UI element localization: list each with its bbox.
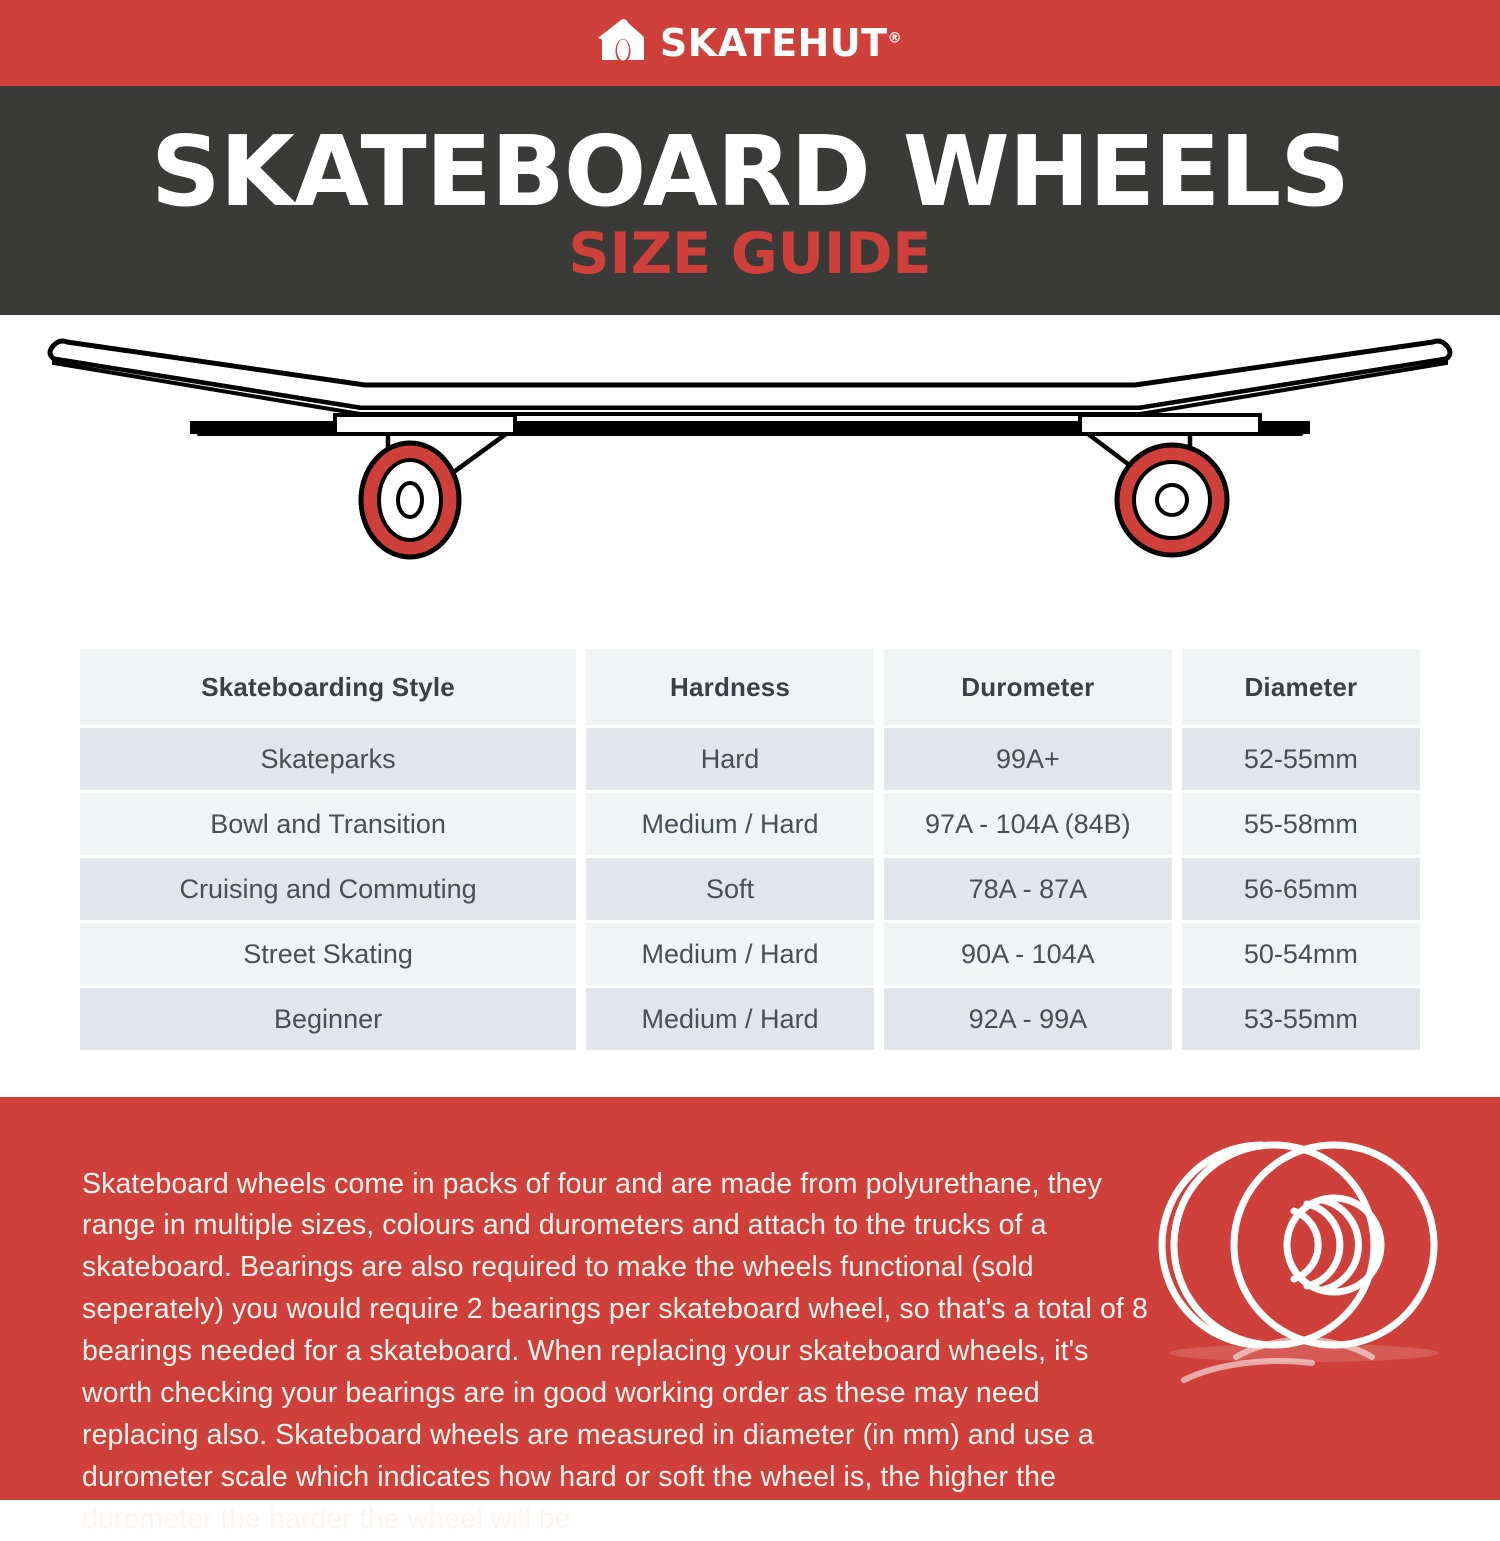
cell-hardness: Medium / Hard bbox=[586, 988, 874, 1050]
cell-hardness: Hard bbox=[586, 728, 874, 790]
cell-diameter: 52-55mm bbox=[1182, 728, 1420, 790]
table-row: Skateparks Hard 99A+ 52-55mm bbox=[80, 728, 1420, 790]
cell-hardness: Medium / Hard bbox=[586, 793, 874, 855]
cell-durometer: 99A+ bbox=[884, 728, 1172, 790]
cell-durometer: 90A - 104A bbox=[884, 923, 1172, 985]
cell-style: Bowl and Transition bbox=[80, 793, 576, 855]
skateboard-side-view-svg bbox=[40, 315, 1460, 615]
cell-style: Skateparks bbox=[80, 728, 576, 790]
table-row: Street Skating Medium / Hard 90A - 104A … bbox=[80, 923, 1420, 985]
brand-bar: SKATEHUT® bbox=[0, 0, 1500, 86]
front-wheel bbox=[361, 443, 459, 557]
brand-name: SKATEHUT® bbox=[660, 24, 902, 62]
footer-paragraph: Skateboard wheels come in packs of four … bbox=[82, 1164, 1162, 1541]
wheel-size-table: Skateboarding Style Hardness Durometer D… bbox=[80, 645, 1420, 1050]
cell-diameter: 55-58mm bbox=[1182, 793, 1420, 855]
cell-style: Cruising and Commuting bbox=[80, 858, 576, 920]
brand-name-text: SKATEHUT bbox=[660, 21, 888, 65]
table-row: Cruising and Commuting Soft 78A - 87A 56… bbox=[80, 858, 1420, 920]
column-header-style: Skateboarding Style bbox=[80, 649, 576, 725]
table-header-row: Skateboarding Style Hardness Durometer D… bbox=[80, 649, 1420, 725]
rear-wheel bbox=[1117, 445, 1227, 555]
skateboard-wheel-icon bbox=[1144, 1125, 1464, 1460]
title-band: SKATEBOARD WHEELS SIZE GUIDE bbox=[0, 86, 1500, 315]
cell-hardness: Medium / Hard bbox=[586, 923, 874, 985]
page-subtitle: SIZE GUIDE bbox=[569, 226, 932, 283]
registered-mark: ® bbox=[888, 30, 903, 46]
cell-diameter: 53-55mm bbox=[1182, 988, 1420, 1050]
table-row: Beginner Medium / Hard 92A - 99A 53-55mm bbox=[80, 988, 1420, 1050]
cell-durometer: 97A - 104A (84B) bbox=[884, 793, 1172, 855]
cell-style: Street Skating bbox=[80, 923, 576, 985]
column-header-durometer: Durometer bbox=[884, 649, 1172, 725]
cell-diameter: 50-54mm bbox=[1182, 923, 1420, 985]
column-header-hardness: Hardness bbox=[586, 649, 874, 725]
cell-durometer: 78A - 87A bbox=[884, 858, 1172, 920]
brand-logo[interactable]: SKATEHUT® bbox=[598, 18, 902, 69]
cell-diameter: 56-65mm bbox=[1182, 858, 1420, 920]
table-row: Bowl and Transition Medium / Hard 97A - … bbox=[80, 793, 1420, 855]
skateboard-illustration bbox=[0, 315, 1500, 645]
cell-style: Beginner bbox=[80, 988, 576, 1050]
skatehut-hut-logo-icon bbox=[598, 18, 650, 69]
page-title: SKATEBOARD WHEELS bbox=[151, 124, 1349, 219]
footer-panel: Skateboard wheels come in packs of four … bbox=[0, 1097, 1500, 1500]
cell-hardness: Soft bbox=[586, 858, 874, 920]
column-header-diameter: Diameter bbox=[1182, 649, 1420, 725]
cell-durometer: 92A - 99A bbox=[884, 988, 1172, 1050]
